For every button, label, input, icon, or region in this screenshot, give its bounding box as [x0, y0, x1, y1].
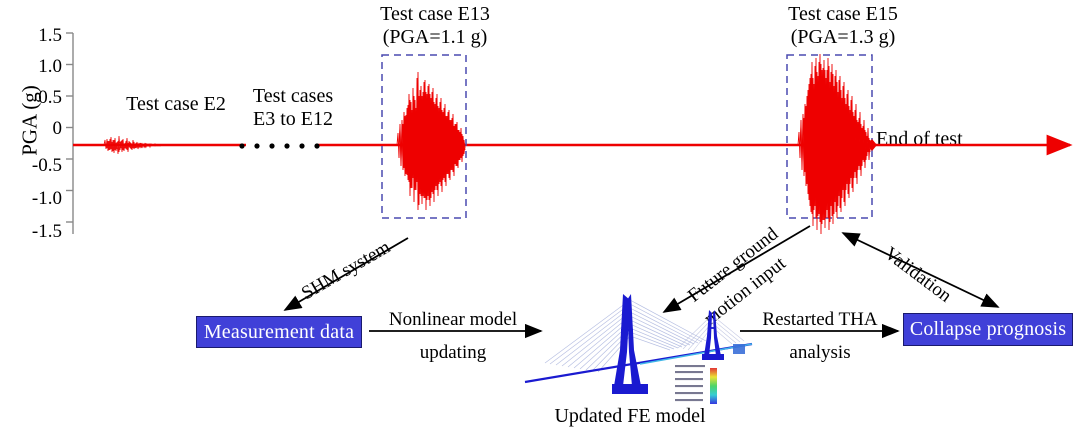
nonlinear-updating-line1: Nonlinear model: [368, 308, 538, 332]
restarted-tha-line2: analysis: [740, 341, 900, 365]
annotation-end-of-test: End of test: [876, 128, 963, 151]
validation-caption: Validation: [880, 243, 956, 308]
waveform-e13: [397, 72, 465, 210]
ytick-1: 1.5: [4, 25, 62, 47]
restarted-tha-line1: Restarted THA: [740, 308, 900, 332]
annotation-e15-line1: Test case E15: [760, 3, 926, 27]
nonlinear-updating-line2: updating: [368, 341, 538, 365]
y-axis: [66, 33, 73, 234]
figure-vector-layer: [0, 0, 1080, 441]
shm-system-caption: SHM system: [298, 237, 394, 305]
measurement-data-box[interactable]: Measurement data: [196, 316, 362, 348]
fe-model-caption: Updated FE model: [520, 405, 740, 428]
annotation-gap-line2: E3 to E12: [228, 107, 358, 131]
fe-model-legend: [675, 365, 717, 404]
collapse-prognosis-label: Collapse prognosis: [910, 318, 1066, 341]
annotation-e15-line2: (PGA=1.3 g): [760, 26, 926, 50]
ellipsis-dots: [239, 143, 319, 148]
annotation-e13-line1: Test case E13: [352, 3, 518, 27]
highlight-box-e13: [382, 55, 466, 218]
highlight-box-e15: [787, 55, 872, 218]
annotation-gap-line1: Test cases: [228, 84, 358, 108]
waveform-e15: [798, 54, 870, 234]
y-axis-label: PGA (g): [18, 61, 43, 181]
annotation-e13-line2: (PGA=1.1 g): [352, 26, 518, 50]
ytick-6: -1.0: [4, 188, 62, 210]
ytick-7: -1.5: [4, 221, 62, 243]
waveform-e2: [104, 136, 161, 154]
measurement-data-label: Measurement data: [204, 321, 354, 344]
figure-root: 1.5 1.0 0.5 0 -0.5 -1.0 -1.5 PGA (g) Tes…: [0, 0, 1080, 441]
collapse-prognosis-box[interactable]: Collapse prognosis: [903, 313, 1073, 346]
